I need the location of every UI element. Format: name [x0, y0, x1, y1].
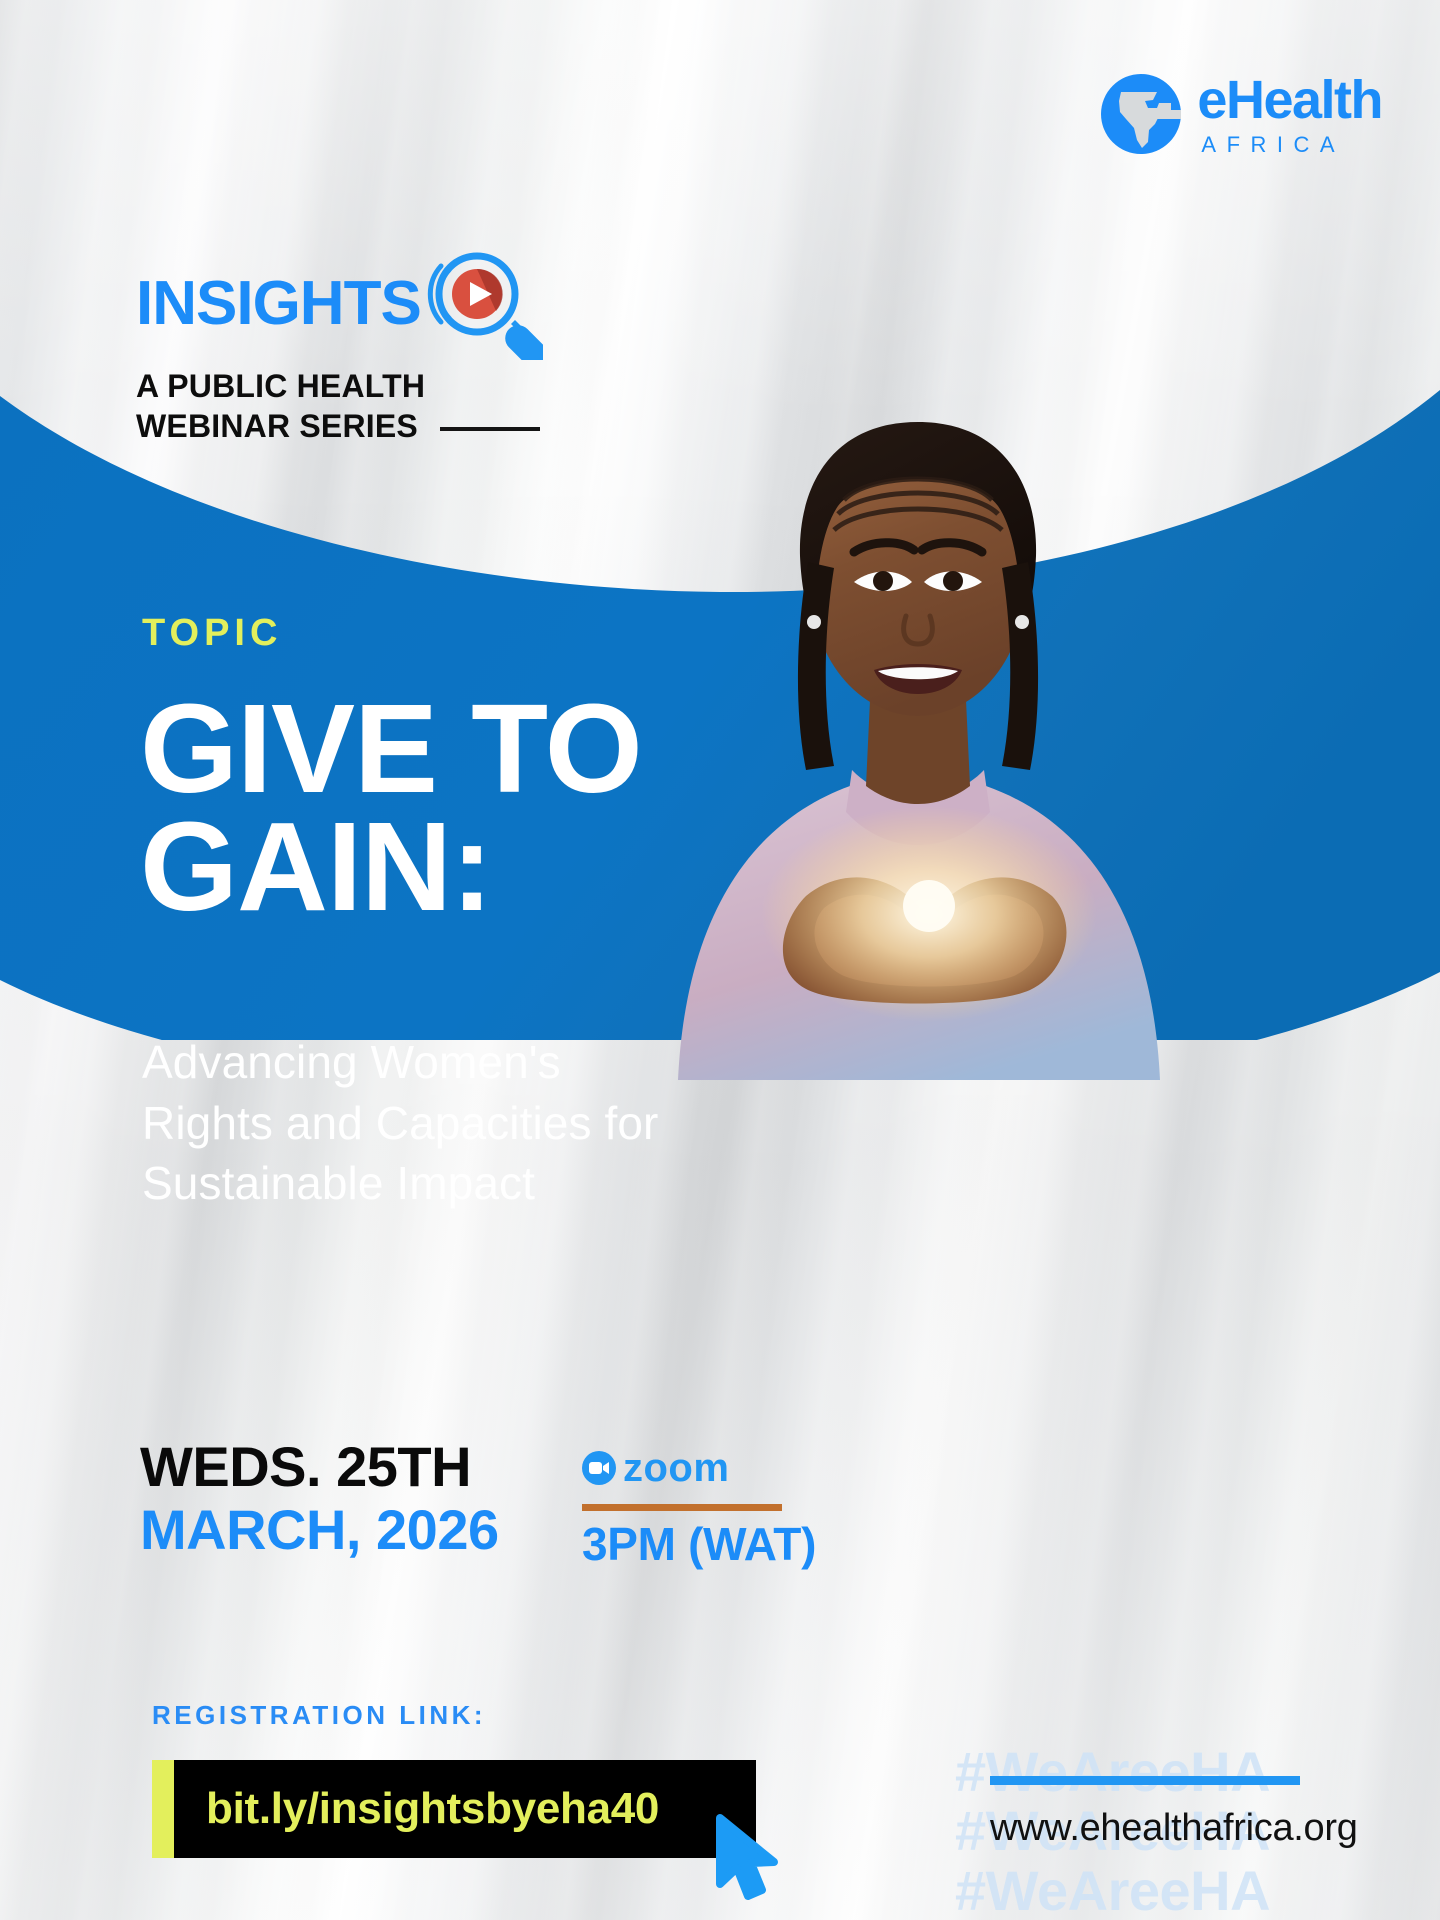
cursor-arrow-icon — [712, 1812, 784, 1904]
zoom-divider-rule — [582, 1504, 782, 1511]
subtitle-line-2: Rights and Capacities for — [142, 1093, 658, 1154]
registration-label: REGISTRATION LINK: — [152, 1700, 486, 1731]
title-line-2: GAIN: — [140, 808, 642, 926]
event-date-month: MARCH, 2026 — [140, 1501, 499, 1560]
zoom-logo: zoom — [582, 1448, 822, 1488]
title-line-1: GIVE TO — [140, 690, 642, 808]
website-rule — [990, 1776, 1300, 1785]
series-tagline-line2: WEBINAR SERIES — [136, 406, 418, 446]
topic-label: TOPIC — [142, 612, 282, 655]
website-block: www.ehealthafrica.org — [990, 1776, 1380, 1850]
zoom-wordmark: zoom — [623, 1448, 729, 1488]
subtitle-line-1: Advancing Women's — [142, 1032, 658, 1093]
logo-wordmark: eHealth — [1197, 73, 1382, 127]
insights-wordmark: INSIGHTS — [136, 273, 421, 335]
subtitle-line-3: Sustainable Impact — [142, 1153, 658, 1214]
website-url[interactable]: www.ehealthafrica.org — [990, 1807, 1380, 1850]
speaker-photo — [638, 300, 1198, 1080]
poster-canvas: eHealth AFRICA INSIGHTS A PUBLIC — [0, 0, 1440, 1920]
tagline-rule — [440, 427, 540, 431]
event-date: WEDS. 25TH MARCH, 2026 — [140, 1438, 499, 1560]
series-tagline-line1: A PUBLIC HEALTH — [136, 366, 556, 406]
event-date-day: WEDS. 25TH — [140, 1438, 499, 1497]
event-platform-block: zoom 3PM (WAT) — [582, 1448, 822, 1567]
topic-subtitle: Advancing Women's Rights and Capacities … — [142, 1032, 658, 1214]
zoom-camera-icon — [582, 1451, 616, 1485]
ehealth-africa-logo: eHealth AFRICA — [1099, 72, 1382, 156]
magnifier-play-icon — [425, 242, 543, 360]
logo-subwordmark: AFRICA — [1201, 134, 1382, 156]
registration-url[interactable]: bit.ly/insightsbyeha40 — [174, 1784, 659, 1834]
insights-lockup: INSIGHTS A PUBLIC HEALTH WEBINAR SERIES — [136, 248, 556, 447]
globe-africa-icon — [1099, 72, 1183, 156]
event-time: 3PM (WAT) — [582, 1521, 822, 1567]
registration-link-bar[interactable]: bit.ly/insightsbyeha40 — [152, 1760, 756, 1858]
page-title: GIVE TO GAIN: — [140, 690, 642, 927]
